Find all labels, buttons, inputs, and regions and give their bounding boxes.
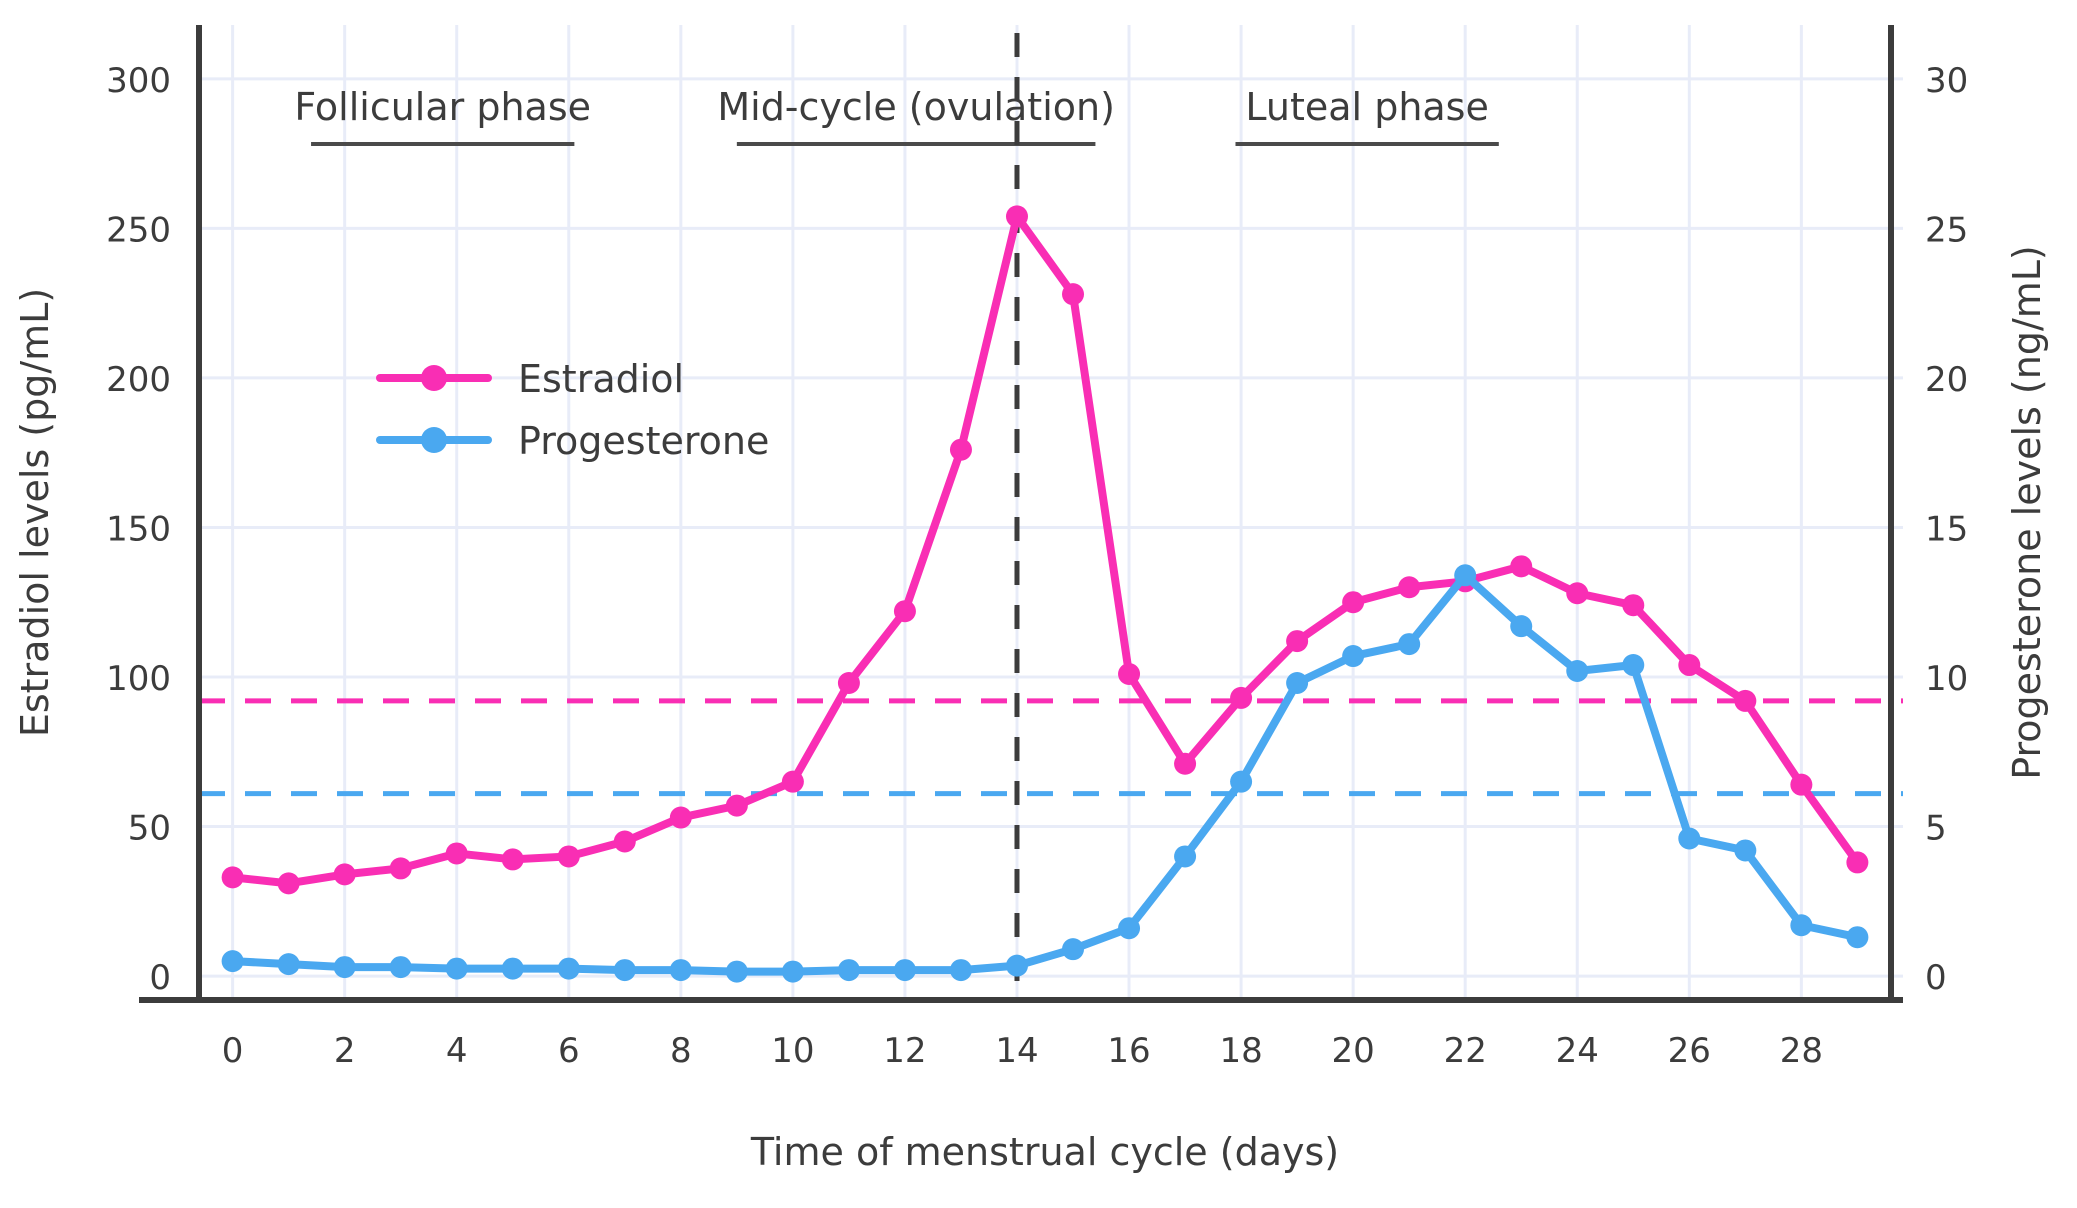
data-point <box>1678 654 1700 676</box>
data-point <box>838 959 860 981</box>
data-point <box>894 959 916 981</box>
x-tick-label: 2 <box>334 1031 356 1071</box>
x-tick-label: 18 <box>1219 1031 1262 1071</box>
data-point <box>1454 564 1476 586</box>
data-point <box>558 845 580 867</box>
data-point <box>222 950 244 972</box>
data-point <box>446 842 468 864</box>
y-tick-label-left: 0 <box>149 958 171 998</box>
data-point <box>558 958 580 980</box>
x-tick-label: 12 <box>883 1031 926 1071</box>
phase-label: Follicular phase <box>294 85 591 129</box>
data-point <box>1566 660 1588 682</box>
data-point <box>278 953 300 975</box>
legend-label: Estradiol <box>518 357 684 401</box>
data-point <box>614 830 636 852</box>
chart-container: Follicular phaseMid-cycle (ovulation)Lut… <box>0 0 2077 1208</box>
y-tick-label-right: 15 <box>1925 509 1968 549</box>
y-tick-label-right: 5 <box>1925 809 1947 849</box>
y-axis-title-left: Estradiol levels (pg/mL) <box>13 288 57 737</box>
x-tick-label: 6 <box>558 1031 580 1071</box>
data-point <box>1230 771 1252 793</box>
data-point <box>782 961 804 983</box>
data-point <box>1118 663 1140 685</box>
data-point <box>334 863 356 885</box>
x-tick-label: 10 <box>771 1031 814 1071</box>
data-point <box>278 872 300 894</box>
data-point <box>1174 753 1196 775</box>
y-tick-label-left: 250 <box>106 210 171 250</box>
chart-background <box>0 0 2077 1208</box>
x-tick-label: 24 <box>1556 1031 1599 1071</box>
data-point <box>670 807 692 829</box>
data-point <box>1846 926 1868 948</box>
data-point <box>838 672 860 694</box>
data-point <box>1230 687 1252 709</box>
x-tick-label: 26 <box>1668 1031 1711 1071</box>
x-tick-label: 0 <box>222 1031 244 1071</box>
data-point <box>670 959 692 981</box>
x-tick-label: 28 <box>1780 1031 1823 1071</box>
y-tick-label-right: 0 <box>1925 958 1947 998</box>
y-tick-label-left: 50 <box>128 809 171 849</box>
x-tick-label: 20 <box>1332 1031 1375 1071</box>
data-point <box>1790 914 1812 936</box>
y-tick-label-right: 20 <box>1925 360 1968 400</box>
data-point <box>1006 205 1028 227</box>
phase-label: Luteal phase <box>1245 85 1488 129</box>
x-tick-label: 14 <box>995 1031 1038 1071</box>
data-point <box>1510 615 1532 637</box>
data-point <box>390 956 412 978</box>
x-tick-label: 22 <box>1444 1031 1487 1071</box>
data-point <box>1622 594 1644 616</box>
data-point <box>1622 654 1644 676</box>
x-axis-title: Time of menstrual cycle (days) <box>750 1130 1339 1174</box>
data-point <box>1790 774 1812 796</box>
x-tick-label: 4 <box>446 1031 468 1071</box>
y-axis-title-right: Progesterone levels (ng/mL) <box>2005 245 2049 780</box>
data-point <box>950 439 972 461</box>
phase-label: Mid-cycle (ovulation) <box>717 85 1115 129</box>
data-point <box>502 958 524 980</box>
data-point <box>614 959 636 981</box>
y-tick-label-left: 100 <box>106 659 171 699</box>
data-point <box>334 956 356 978</box>
legend-marker <box>421 427 447 453</box>
data-point <box>726 961 748 983</box>
data-point <box>1286 672 1308 694</box>
data-point <box>390 857 412 879</box>
data-point <box>1678 828 1700 850</box>
data-point <box>1510 555 1532 577</box>
data-point <box>1566 582 1588 604</box>
data-point <box>950 959 972 981</box>
data-point <box>782 771 804 793</box>
y-tick-label-right: 30 <box>1925 61 1968 101</box>
data-point <box>1342 645 1364 667</box>
data-point <box>1286 630 1308 652</box>
data-point <box>1398 576 1420 598</box>
data-point <box>1398 633 1420 655</box>
x-tick-label: 16 <box>1107 1031 1150 1071</box>
data-point <box>446 958 468 980</box>
data-point <box>1734 690 1756 712</box>
menstrual-cycle-hormone-chart: Follicular phaseMid-cycle (ovulation)Lut… <box>0 0 2077 1208</box>
data-point <box>894 600 916 622</box>
y-tick-label-left: 300 <box>106 61 171 101</box>
data-point <box>1118 917 1140 939</box>
data-point <box>502 848 524 870</box>
data-point <box>1062 283 1084 305</box>
data-point <box>1174 845 1196 867</box>
data-point <box>1846 851 1868 873</box>
y-tick-label-left: 150 <box>106 509 171 549</box>
data-point <box>1062 938 1084 960</box>
data-point <box>726 795 748 817</box>
data-point <box>222 866 244 888</box>
data-point <box>1734 839 1756 861</box>
x-tick-label: 8 <box>670 1031 692 1071</box>
y-tick-label-left: 200 <box>106 360 171 400</box>
legend-label: Progesterone <box>518 419 769 463</box>
y-tick-label-right: 25 <box>1925 210 1968 250</box>
data-point <box>1006 955 1028 977</box>
y-tick-label-right: 10 <box>1925 659 1968 699</box>
legend-marker <box>421 365 447 391</box>
data-point <box>1342 591 1364 613</box>
